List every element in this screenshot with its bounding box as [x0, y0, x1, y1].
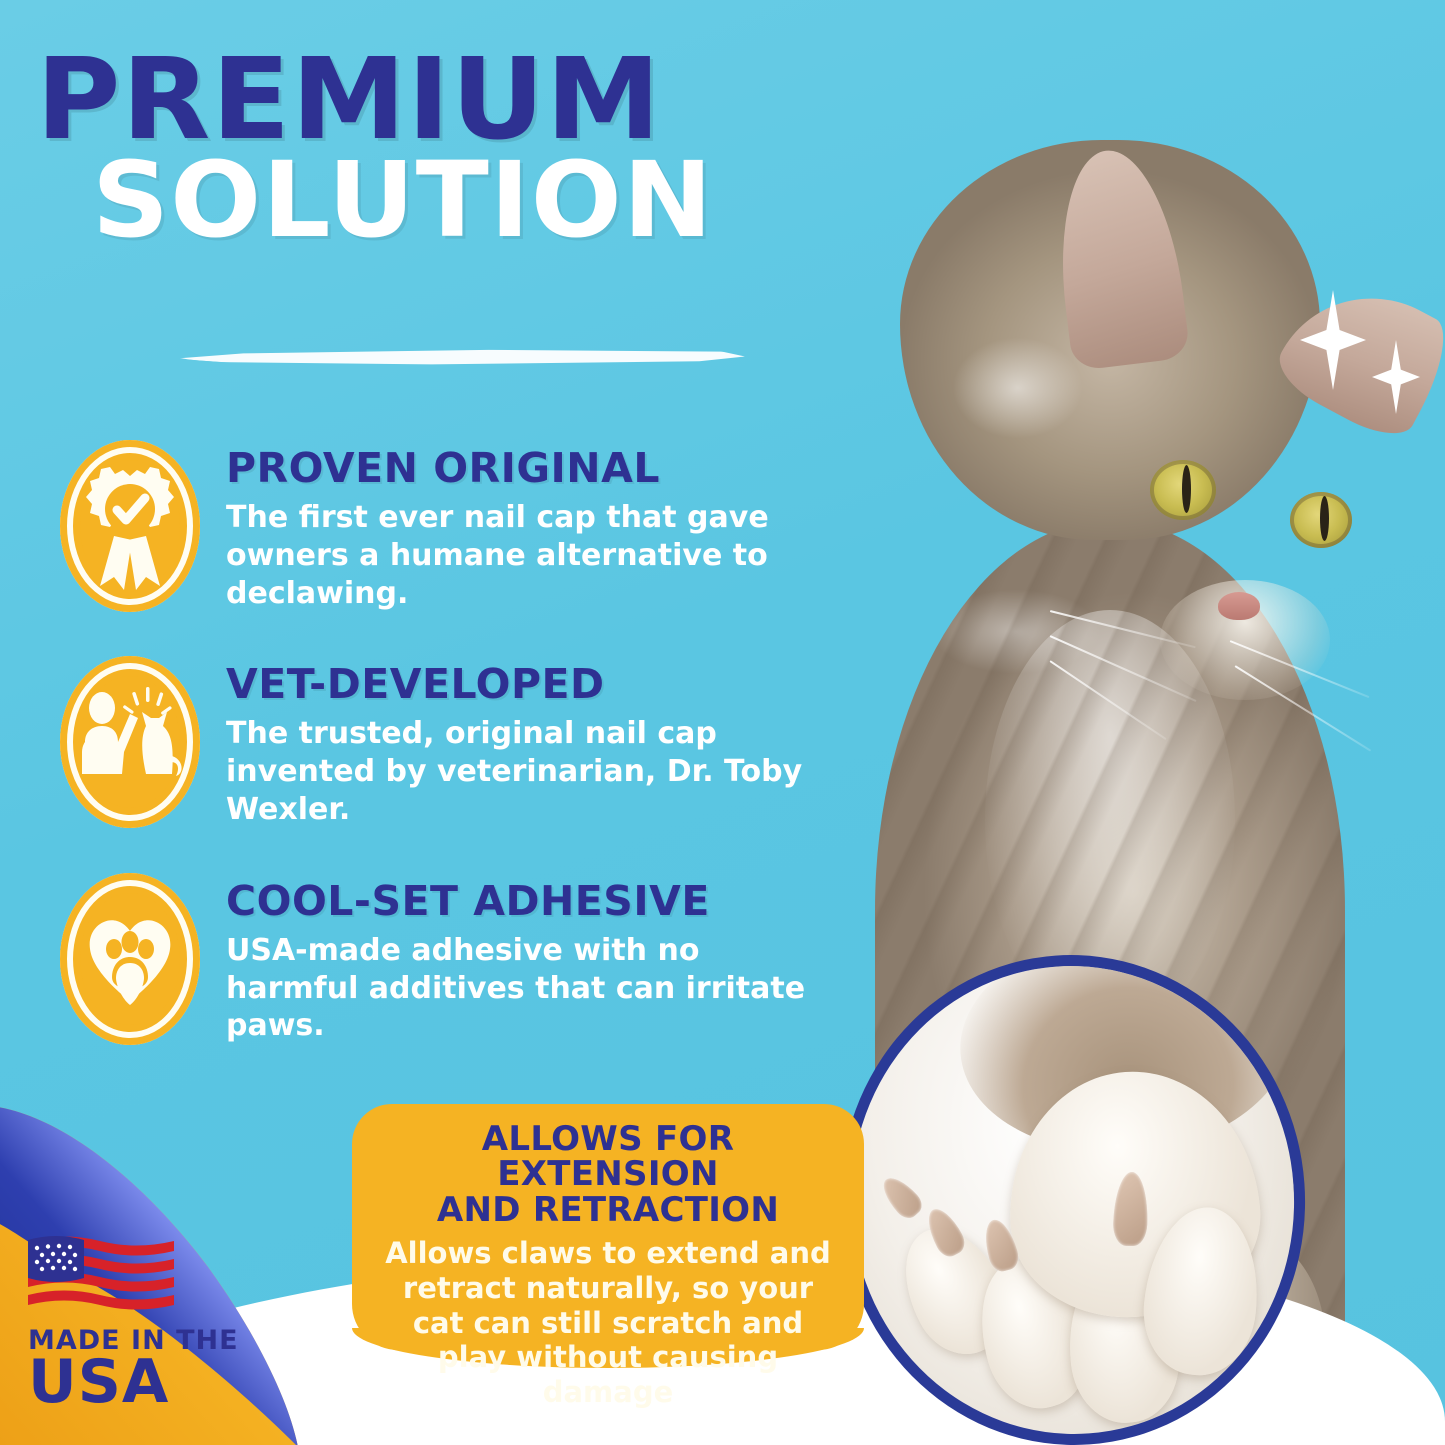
feature-item: PROVEN ORIGINAL The first ever nail cap … — [60, 440, 860, 612]
heart-paw-icon — [60, 873, 200, 1045]
callout-title-line-2: AND RETRACTION — [374, 1193, 842, 1228]
callout-body: Allows claws to extend and retract natur… — [374, 1236, 842, 1410]
feature-list: PROVEN ORIGINAL The first ever nail cap … — [60, 440, 860, 1089]
cat-head — [900, 140, 1320, 540]
us-flag-icon — [26, 1231, 176, 1317]
made-in-usa-line-2: USA — [28, 1354, 239, 1411]
product-infographic-poster: PREMIUM SOLUTION — [0, 0, 1445, 1445]
cat-eye-right — [1290, 492, 1352, 548]
made-in-usa-badge: MADE IN THE USA — [28, 1328, 239, 1411]
vet-high-five-cat-icon — [60, 656, 200, 828]
headline-line-1: PREMIUM — [36, 52, 860, 148]
cat-nose — [1218, 592, 1260, 620]
feature-title: VET-DEVELOPED — [226, 664, 826, 705]
cat-ear-right-icon — [1268, 262, 1445, 447]
cat-eye-left — [1150, 460, 1216, 520]
page-title: PREMIUM SOLUTION — [36, 52, 836, 246]
feature-item: VET-DEVELOPED The trusted, original nail… — [60, 656, 860, 828]
headline-divider-swoosh — [175, 345, 745, 367]
headline-line-2: SOLUTION — [92, 156, 858, 245]
callout-title-line-1: ALLOWS FOR EXTENSION — [374, 1122, 842, 1193]
feature-body: USA-made adhesive with no harmful additi… — [226, 932, 826, 1045]
nail-cap — [876, 1171, 926, 1223]
feature-body: The trusted, original nail cap invented … — [226, 715, 826, 828]
award-ribbon-icon — [60, 440, 200, 612]
feature-body: The first ever nail cap that gave owners… — [226, 499, 826, 612]
feature-title: COOL-SET ADHESIVE — [226, 881, 826, 922]
extension-retraction-callout: ALLOWS FOR EXTENSION AND RETRACTION Allo… — [352, 1104, 864, 1350]
feature-title: PROVEN ORIGINAL — [226, 448, 826, 489]
feature-item: COOL-SET ADHESIVE USA-made adhesive with… — [60, 873, 860, 1045]
cat-ear-left-icon — [1047, 144, 1190, 372]
